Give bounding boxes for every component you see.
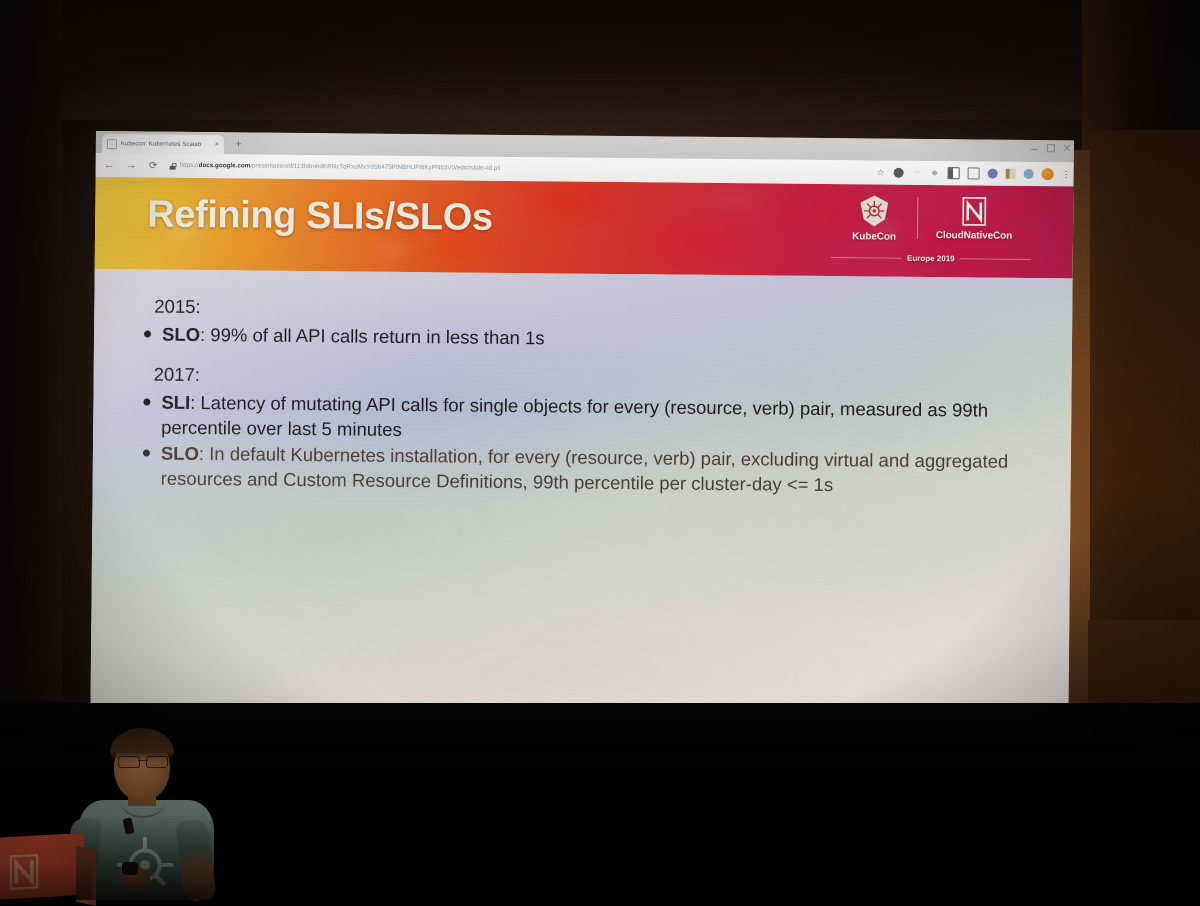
year-label-2017: 2017: — [154, 364, 1020, 394]
cloudnativecon-label: CloudNativeCon — [936, 230, 1012, 242]
bullet-rest: : Latency of mutating API calls for sing… — [161, 392, 988, 440]
extension-clock-icon[interactable] — [1024, 169, 1034, 179]
bullet-text: SLO: 99% of all API calls return in less… — [162, 322, 1020, 355]
toolbar-icon-group: ☆ ··· ◆ ⋮ — [876, 166, 1074, 180]
conference-edition: Europe 2019 — [831, 253, 1031, 264]
glasses-right-lens — [146, 756, 168, 768]
minimize-button[interactable] — [1031, 144, 1038, 151]
extension-dots-icon[interactable]: ··· — [912, 168, 922, 178]
new-tab-button[interactable]: + — [232, 138, 245, 151]
url-text: https://docs.google.com/presentation/d/1… — [180, 163, 501, 172]
extension-blue-circle-icon[interactable] — [988, 169, 998, 179]
browser-tab[interactable]: Kubecon: Kubernetes Scalab × — [102, 134, 224, 154]
profile-avatar-icon[interactable] — [1042, 168, 1054, 180]
slide-group-2017: 2017: SLI: Latency of mutating API calls… — [143, 364, 1020, 500]
bullet-text: SLI: Latency of mutating API calls for s… — [161, 391, 1019, 448]
extension-square-split-icon[interactable] — [948, 167, 960, 179]
glasses-left-lens — [118, 756, 140, 768]
reload-icon[interactable]: ⟳ — [145, 157, 162, 174]
wall-left — [0, 0, 62, 700]
menu-icon[interactable]: ⋮ — [1062, 169, 1068, 179]
forward-icon[interactable]: → — [123, 157, 140, 174]
window-controls — [1031, 144, 1070, 151]
bullet-dot-icon — [143, 450, 150, 457]
close-window-button[interactable] — [1063, 144, 1070, 151]
projection-screen: Kubecon: Kubernetes Scalab × + ← → ⟳ htt… — [90, 131, 1074, 718]
cncf-cube-icon — [959, 195, 989, 227]
bullet-rest: : 99% of all API calls return in less th… — [200, 324, 545, 348]
lock-icon — [170, 162, 176, 169]
presentation-clicker — [122, 862, 138, 875]
slide-content: 2015: SLO: 99% of all API calls return i… — [90, 269, 1072, 718]
page-icon — [107, 139, 117, 149]
google-slides-slide: Refining SLIs/SLOs — [90, 177, 1073, 718]
extension-rectangle-icon[interactable] — [968, 167, 980, 179]
cncf-cube-icon — [6, 851, 42, 893]
bullet-text: SLO: In default Kubernetes installation,… — [161, 442, 1019, 499]
divider-left — [831, 257, 902, 259]
bullet-dot-icon — [143, 399, 150, 406]
extension-small-icon[interactable]: ◆ — [930, 168, 940, 178]
close-icon[interactable]: × — [215, 141, 219, 148]
kubernetes-helm-icon — [857, 194, 891, 228]
back-icon[interactable]: ← — [101, 157, 118, 174]
bullet-item: SLO: 99% of all API calls return in less… — [144, 322, 1020, 355]
year-label-2015: 2015: — [154, 296, 1020, 326]
browser-window: Kubecon: Kubernetes Scalab × + ← → ⟳ htt… — [90, 131, 1074, 718]
bullet-item: SLO: In default Kubernetes installation,… — [143, 442, 1019, 500]
podium-side-panel — [76, 846, 96, 906]
extension-dark-circle-icon[interactable] — [894, 168, 904, 178]
browser-tab-title: Kubecon: Kubernetes Scalab — [121, 141, 211, 148]
bullet-term: SLO — [161, 443, 199, 464]
conference-logos: KubeCon CloudNativeCon — [831, 194, 1032, 270]
slide-header-band: Refining SLIs/SLOs — [95, 177, 1074, 278]
address-bar[interactable]: https://docs.google.com/presentation/d/1… — [170, 158, 870, 180]
bullet-term: SLO — [162, 323, 200, 344]
url-host: docs.google.com — [199, 162, 251, 169]
maximize-button[interactable] — [1047, 144, 1054, 151]
bullet-rest: : In default Kubernetes installation, fo… — [161, 443, 1009, 495]
bullet-dot-icon — [144, 330, 151, 337]
bullet-term: SLI — [161, 392, 190, 413]
page-title: Refining SLIs/SLOs — [147, 193, 493, 239]
bullet-item: SLI: Latency of mutating API calls for s… — [143, 391, 1019, 449]
star-icon[interactable]: ☆ — [876, 167, 886, 177]
edition-label: Europe 2019 — [907, 254, 955, 263]
kubecon-label: KubeCon — [852, 231, 896, 242]
divider-right — [960, 258, 1031, 260]
cloudnativecon-logo: CloudNativeCon — [918, 195, 1030, 242]
url-path: /presentation/d/113h8mhdKRNzTqRxuMxYdSb4… — [250, 162, 501, 171]
glasses-bridge — [138, 760, 148, 761]
slide-group-2015: 2015: SLO: 99% of all API calls return i… — [144, 295, 1020, 355]
kubecon-logo: KubeCon — [831, 194, 917, 243]
extension-book-icon[interactable] — [1006, 169, 1016, 179]
slide-body: 2015: SLO: 99% of all API calls return i… — [90, 269, 1072, 718]
presenter-glasses — [118, 756, 168, 766]
url-scheme: https:// — [180, 162, 199, 169]
